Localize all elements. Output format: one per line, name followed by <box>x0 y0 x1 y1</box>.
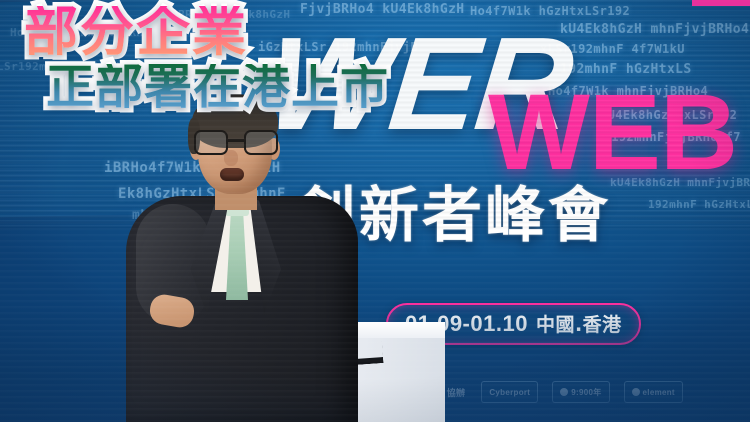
headline-line-2: 正部署在港上市 正部署在港上市 <box>46 64 389 110</box>
headline-line-1: 部分企業 部分企業 <box>24 6 389 58</box>
accent-tick <box>692 0 750 6</box>
headline-line-1-text: 部分企業 <box>24 6 248 58</box>
overlay-headline: 部分企業 部分企業 正部署在港上市 正部署在港上市 <box>10 6 389 110</box>
headline-line-2-text: 正部署在港上市 <box>46 64 389 110</box>
news-photo: FjvjBRHo4 kU4Ek8hGzH Ho4f7W1k hGzHtxLSr1… <box>0 0 750 422</box>
